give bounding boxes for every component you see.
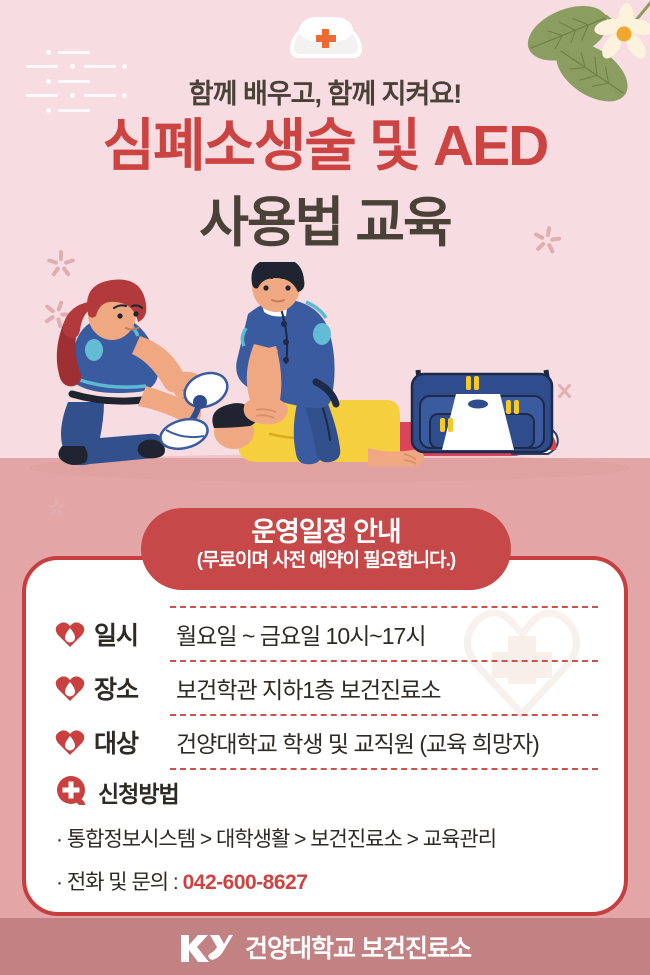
schedule-banner-subtitle: (무료이며 사전 예약이 필요합니다.) [141,549,511,573]
poster-title-line-1: 심폐소생술 및 AED [0,118,650,175]
info-row-target: 대상 건양대학교 학생 및 교직원 (교육 희망자) [52,716,598,768]
schedule-banner: 운영일정 안내 (무료이며 사전 예약이 필요합니다.) [141,508,511,590]
contact-line: · 전화 및 문의 : 042-600-8627 [56,866,596,896]
row-divider [170,768,598,770]
heart-droplet-icon [52,729,88,756]
heart-droplet-icon [52,675,88,702]
contact-phone-number[interactable]: 042-600-8627 [183,871,308,894]
sparkle-decoration [48,498,66,516]
info-row-value: 월요일 ~ 금요일 10시~17시 [164,617,425,651]
poster-root: 함께 배우고, 함께 지켜요! 심폐소생술 및 AED 사용법 교육 [0,0,650,975]
info-row-label: 장소 [88,670,164,706]
application-method-label: 신청방법 [86,775,179,809]
application-path-line: · 통합정보시스템 > 대학생활 > 보건진료소 > 교육관리 [56,823,596,853]
poster-tagline: 함께 배우고, 함께 지켜요! [0,72,650,111]
heart-droplet-icon [52,621,88,648]
schedule-banner-title: 운영일정 안내 [141,517,511,549]
cpr-rescue-illustration [0,262,650,492]
application-method-heading: 신청방법 [56,774,596,810]
poster-title-line-2: 사용법 교육 [0,196,650,250]
info-row-value: 건양대학교 학생 및 교직원 (교육 희망자) [164,725,539,759]
info-row-label: 대상 [88,724,164,760]
medical-cross-bubble-icon [56,775,86,810]
footer-bar: 건양대학교 보건진료소 [0,918,650,975]
application-method-block: 신청방법 · 통합정보시스템 > 대학생활 > 보건진료소 > 교육관리 · 전… [56,774,596,896]
konyang-ky-logo-icon [179,932,233,962]
contact-label: · 전화 및 문의 : [56,871,183,894]
footer-organization-name: 건양대학교 보건진료소 [245,929,471,965]
schedule-info-card: 일시 월요일 ~ 금요일 10시~17시 장소 보건학관 지하1층 보건진료소 [22,556,628,916]
info-row-place: 장소 보건학관 지하1층 보건진료소 [52,662,598,714]
info-rows: 일시 월요일 ~ 금요일 10시~17시 장소 보건학관 지하1층 보건진료소 [52,606,598,770]
info-row-label: 일시 [88,616,164,652]
nurse-cap-icon [290,16,362,60]
info-row-date: 일시 월요일 ~ 금요일 10시~17시 [52,608,598,660]
info-row-value: 보건학관 지하1층 보건진료소 [164,671,441,705]
